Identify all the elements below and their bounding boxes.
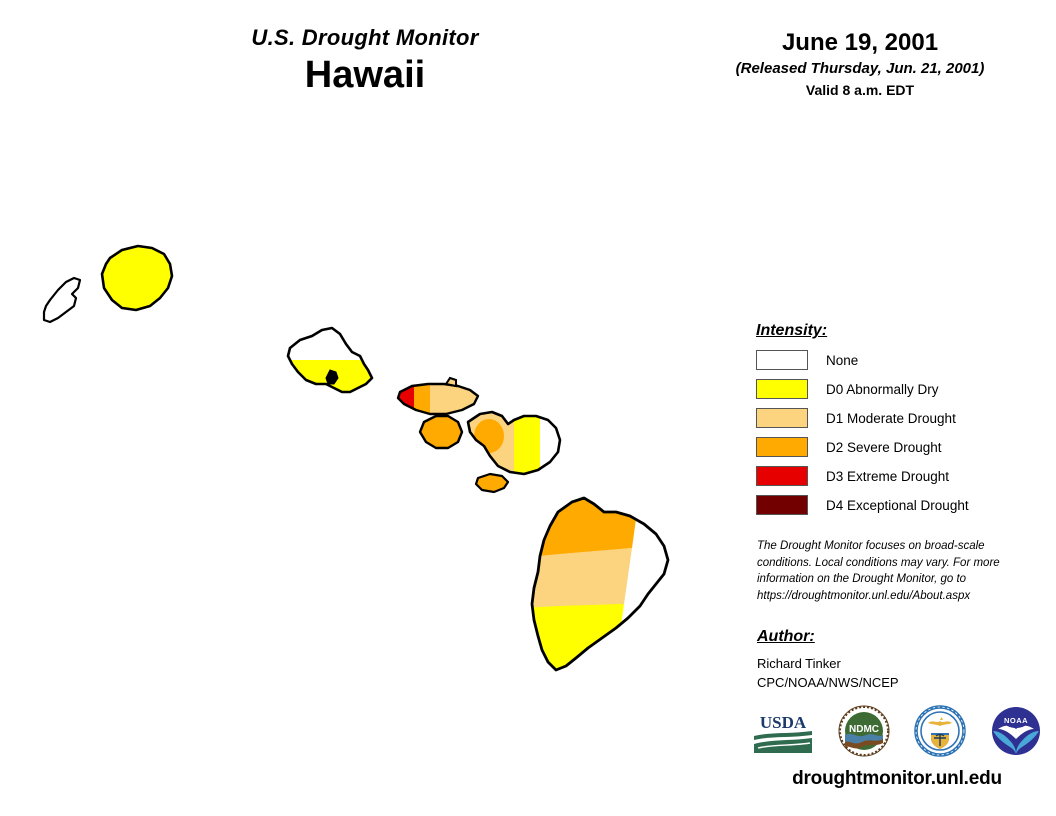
disclaimer-text: The Drought Monitor focuses on broad-sca… [757, 538, 1025, 605]
map-date: June 19, 2001 [700, 30, 1020, 56]
noaa-logo: NOAA [990, 705, 1042, 762]
legend-swatch-d4 [756, 495, 808, 515]
legend-item-d0: D0 Abnormally Dry [756, 377, 1036, 401]
legend-label-d4: D4 Exceptional Drought [826, 498, 969, 513]
legend-item-d2: D2 Severe Drought [756, 435, 1036, 459]
legend-item-d3: D3 Extreme Drought [756, 464, 1036, 488]
site-url: droughtmonitor.unl.edu [752, 768, 1042, 790]
date-block: June 19, 2001 (Released Thursday, Jun. 2… [700, 30, 1020, 98]
title-block: U.S. Drought Monitor Hawaii [150, 26, 580, 98]
legend-label-none: None [826, 353, 858, 368]
author-name: Richard Tinker [757, 655, 1025, 674]
legend-heading: Intensity: [756, 322, 1036, 340]
state-title: Hawaii [150, 54, 580, 98]
legend-label-d1: D1 Moderate Drought [826, 411, 956, 426]
program-title: U.S. Drought Monitor [150, 26, 580, 50]
legend-label-d3: D3 Extreme Drought [826, 469, 949, 484]
release-date: (Released Thursday, Jun. 21, 2001) [700, 61, 1020, 78]
legend-item-d1: D1 Moderate Drought [756, 406, 1036, 430]
island-kahoolawe [476, 474, 508, 492]
island-kauai [90, 230, 190, 330]
island-maui [460, 406, 570, 482]
legend-swatch-d1 [756, 408, 808, 428]
logo-row: USDA NDMC [752, 704, 1042, 762]
nws-seal-logo [914, 705, 966, 762]
svg-text:NOAA: NOAA [1004, 716, 1028, 725]
author-heading: Author: [757, 628, 1025, 646]
usda-logo: USDA [752, 708, 814, 759]
hawaii-drought-map [0, 130, 740, 730]
legend-item-none: None [756, 348, 1036, 372]
legend-label-d0: D0 Abnormally Dry [826, 382, 939, 397]
legend-swatch-d3 [756, 466, 808, 486]
island-lanai [420, 416, 462, 448]
legend: Intensity: None D0 Abnormally Dry D1 Mod… [756, 322, 1036, 522]
svg-text:NDMC: NDMC [849, 724, 879, 735]
ndmc-logo: NDMC [838, 705, 890, 762]
island-oahu [280, 320, 390, 410]
valid-time: Valid 8 a.m. EDT [700, 83, 1020, 98]
legend-swatch-d0 [756, 379, 808, 399]
island-hawaii-big-island [520, 490, 700, 690]
author-affiliation: CPC/NOAA/NWS/NCEP [757, 674, 1025, 693]
author-block: Author: Richard Tinker CPC/NOAA/NWS/NCEP [757, 628, 1025, 693]
legend-label-d2: D2 Severe Drought [826, 440, 942, 455]
legend-item-d4: D4 Exceptional Drought [756, 493, 1036, 517]
svg-text:USDA: USDA [760, 713, 807, 732]
legend-swatch-d2 [756, 437, 808, 457]
island-niihau [44, 278, 80, 322]
legend-swatch-none [756, 350, 808, 370]
